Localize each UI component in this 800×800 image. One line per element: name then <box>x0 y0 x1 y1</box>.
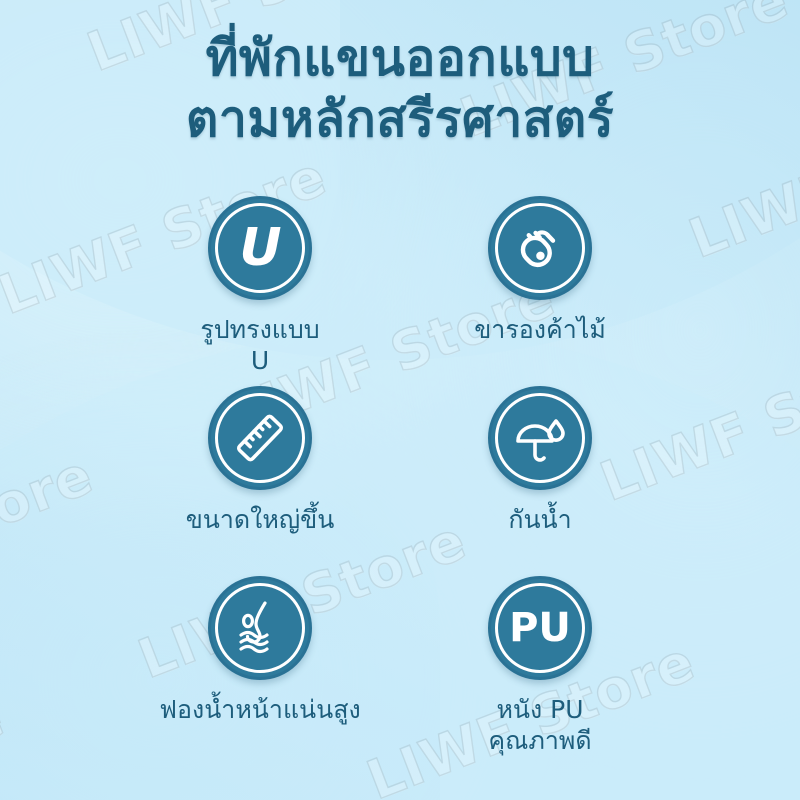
feature-label-u-shape: รูปทรงแบบ U <box>200 314 319 376</box>
feature-label-line-2: คุณภาพดี <box>488 725 591 756</box>
feature-label-wood-support: ขารองค้าไม้ <box>474 314 606 345</box>
letter-u-icon-text: U <box>239 222 280 274</box>
feature-item-waterproof: กันน้ำ <box>400 386 680 576</box>
feature-label-line-1: ขนาดใหญ่ขึ้น <box>186 504 335 535</box>
feature-grid: U รูปทรงแบบ U <box>120 196 680 766</box>
feature-label-line-1: หนัง PU <box>488 694 591 725</box>
page-title-line-2: ตามหลักสรีรศาสตร์ <box>0 89 800 150</box>
feature-item-u-shape: U รูปทรงแบบ U <box>120 196 400 386</box>
feature-label-line-1: รูปทรงแบบ <box>200 314 319 345</box>
feature-label-line-1: กันน้ำ <box>508 504 571 535</box>
feature-label-high-density-foam: ฟองน้ำหน้าแน่นสูง <box>159 694 360 725</box>
feature-label-bigger-size: ขนาดใหญ่ขึ้น <box>186 504 335 535</box>
feature-label-pu-leather: หนัง PU คุณภาพดี <box>488 694 591 756</box>
feature-label-line-1: ขารองค้าไม้ <box>474 314 606 345</box>
feature-label-line-2: U <box>200 345 319 376</box>
wooden-support-leg-icon <box>488 196 592 300</box>
wooden-support-leg-glyph <box>510 218 570 278</box>
page-title: ที่พักแขนออกแบบ ตามหลักสรีรศาสตร์ <box>0 28 800 150</box>
feature-label-line-1: ฟองน้ำหน้าแน่นสูง <box>159 694 360 725</box>
letter-u-icon: U <box>208 196 312 300</box>
feature-item-pu-leather: PU หนัง PU คุณภาพดี <box>400 576 680 766</box>
feature-item-bigger-size: ขนาดใหญ่ขึ้น <box>120 386 400 576</box>
umbrella-waterproof-icon <box>488 386 592 490</box>
feature-label-waterproof: กันน้ำ <box>508 504 571 535</box>
pu-leather-icon: PU <box>488 576 592 680</box>
feature-item-wood-support: ขารองค้าไม้ <box>400 196 680 386</box>
pu-leather-icon-text: PU <box>509 608 571 648</box>
feature-item-high-density-foam: ฟองน้ำหน้าแน่นสูง <box>120 576 400 766</box>
umbrella-waterproof-glyph <box>509 407 571 469</box>
page-title-line-1: ที่พักแขนออกแบบ <box>0 28 800 89</box>
ruler-glyph <box>230 408 290 468</box>
water-splash-foam-glyph <box>229 597 291 659</box>
product-feature-infographic: LIWF Store LIWF Store LIWF Store LIWF St… <box>0 0 800 800</box>
ruler-icon <box>208 386 312 490</box>
water-splash-foam-icon <box>208 576 312 680</box>
